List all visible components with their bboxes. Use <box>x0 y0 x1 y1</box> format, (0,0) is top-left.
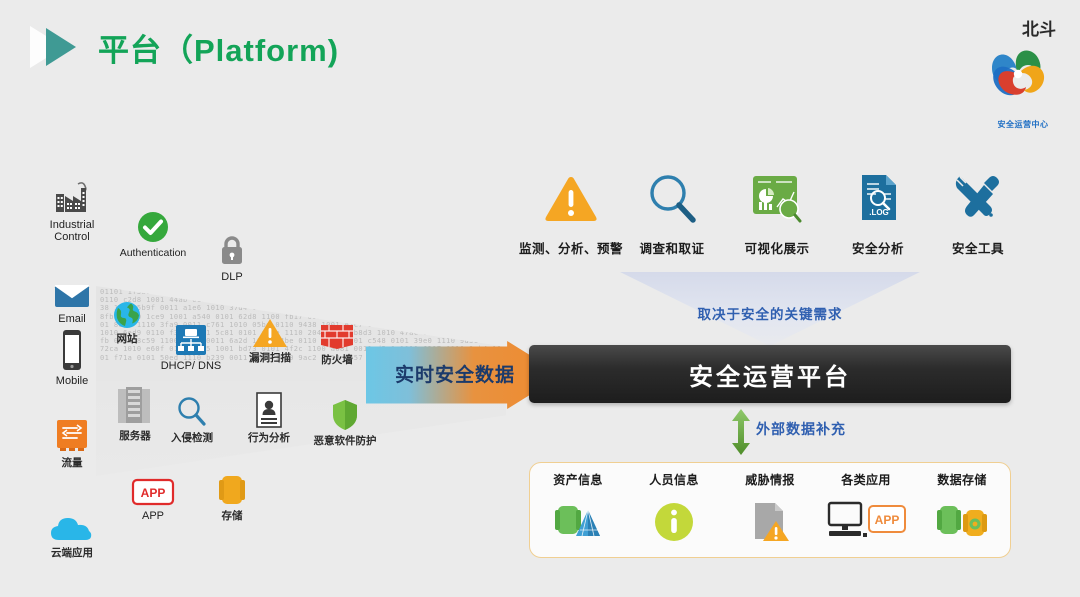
logo-calligraphy: 北斗 <box>1022 22 1056 38</box>
source-label: 存储 <box>186 510 278 522</box>
source-storage[interactable]: 存储 <box>186 463 278 522</box>
capability-label: 安全工具 <box>923 238 1033 257</box>
svg-text:APP: APP <box>875 513 900 527</box>
capability-label: 调查和取证 <box>617 238 727 257</box>
slide-title-row: 平台（Platform) <box>30 24 339 70</box>
security-operations-platform-bar[interactable]: 安全运营平台 <box>529 345 1011 403</box>
supporting-label: 数据存储 <box>915 471 1009 488</box>
supporting-data-storage[interactable]: 数据存储 <box>915 471 1009 557</box>
play-triangle-icon <box>30 24 86 70</box>
cloud-icon <box>26 500 118 544</box>
supporting-label: 威胁情报 <box>723 471 817 488</box>
supporting-asset-info[interactable]: 资产信息 <box>531 471 625 557</box>
realtime-data-label: 实时安全数据 <box>380 360 530 387</box>
capability-label: 安全分析 <box>823 238 933 257</box>
wrench-hammer-icon <box>923 168 1033 230</box>
asset-database-icon <box>531 494 625 550</box>
firewall-brick-icon <box>291 307 383 351</box>
supporting-applications[interactable]: 各类应用 APP <box>819 471 913 557</box>
magnifier-icon <box>617 168 727 230</box>
page-title: 平台（Platform) <box>98 25 339 70</box>
double-arrow-vertical-icon <box>730 408 752 456</box>
capability-security-analysis[interactable]: .LOG 安全分析 <box>823 168 933 257</box>
source-cloud-app[interactable]: 云端应用 <box>26 500 118 559</box>
source-industrial-control[interactable]: IndustrialControl <box>26 172 118 243</box>
threat-document-icon <box>723 494 817 550</box>
capability-monitoring[interactable]: 监测、分析、预警 <box>516 168 626 257</box>
organization-logo: 北斗 安全运营中心 <box>984 22 1062 132</box>
source-label: DLP <box>186 271 278 283</box>
dashboard-chart-icon <box>722 168 832 230</box>
supporting-personnel-info[interactable]: 人员信息 <box>627 471 721 557</box>
capability-label: 监测、分析、预警 <box>516 238 626 257</box>
supporting-threat-intel[interactable]: 威胁情报 <box>723 471 817 557</box>
requirement-label: 取决于安全的关键需求 <box>620 303 920 323</box>
capability-investigation[interactable]: 调查和取证 <box>617 168 727 257</box>
log-document-icon: .LOG <box>823 168 933 230</box>
storage-icon <box>186 463 278 507</box>
source-label: IndustrialControl <box>26 219 118 243</box>
capability-visualization[interactable]: 可视化展示 <box>722 168 832 257</box>
data-storage-icon <box>915 494 1009 550</box>
source-label: 流量 <box>26 457 118 469</box>
svg-text:APP: APP <box>141 486 166 500</box>
supporting-label: 各类应用 <box>819 471 913 488</box>
source-label: 恶意软件防护 <box>290 435 400 447</box>
factory-icon <box>26 172 118 216</box>
logo-label: 安全运营中心 <box>984 119 1062 130</box>
supporting-label: 资产信息 <box>531 471 625 488</box>
capability-label: 可视化展示 <box>722 238 832 257</box>
platform-label: 安全运营平台 <box>689 357 851 392</box>
supporting-label: 人员信息 <box>627 471 721 488</box>
source-label: 云端应用 <box>26 547 118 559</box>
slide-root: 平台（Platform) 北斗 安全运营中心 01101 1f3a9 0x4e … <box>0 0 1080 597</box>
warning-triangle-icon <box>516 168 626 230</box>
padlock-icon <box>186 224 278 268</box>
info-circle-icon <box>627 494 721 550</box>
monitor-app-icon: APP <box>819 494 913 550</box>
source-dlp[interactable]: DLP <box>186 224 278 283</box>
capability-security-tools[interactable]: 安全工具 <box>923 168 1033 257</box>
external-data-label: 外部数据补充 <box>756 419 846 439</box>
svg-text:.LOG: .LOG <box>869 208 889 217</box>
supporting-data-card: 资产信息 人员信息 <box>529 462 1011 558</box>
